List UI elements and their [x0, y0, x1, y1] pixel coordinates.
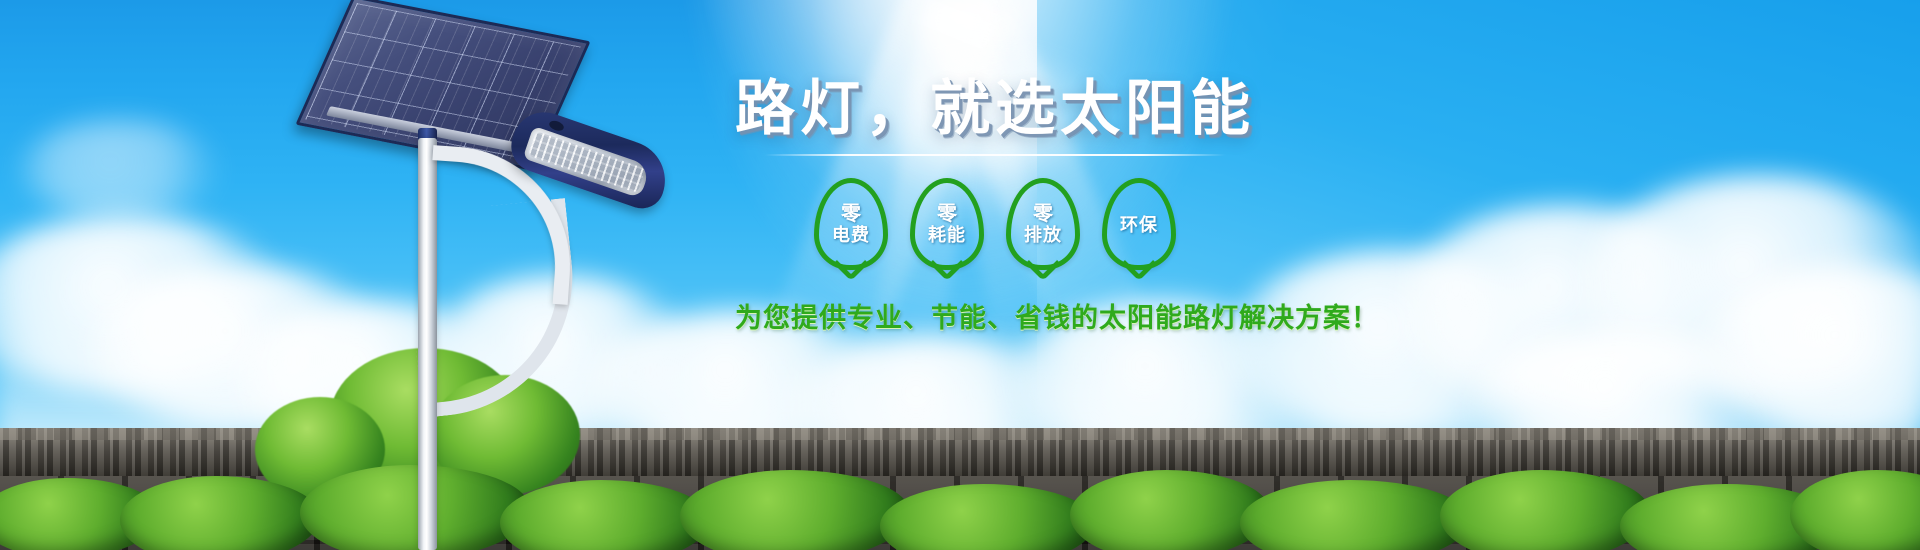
wall-blocks — [0, 476, 1920, 550]
banner-content: 路灯，就选太阳能 零 电费 零 耗能 零 排放 环保 — [735, 78, 1255, 335]
page-title: 路灯，就选太阳能 — [735, 78, 1255, 140]
roof-tiles — [0, 428, 1920, 476]
title-divider — [765, 154, 1225, 156]
badge-zero-label: 零 — [937, 204, 957, 224]
solar-street-lamp-banner: 路灯，就选太阳能 零 电费 零 耗能 零 排放 环保 — [0, 0, 1920, 550]
badge-text: 电费 — [832, 226, 870, 244]
badge-text: 环保 — [1120, 216, 1158, 234]
badge-text: 排放 — [1024, 226, 1062, 244]
badge-zero-label: 零 — [841, 204, 861, 224]
badge-text: 耗能 — [928, 226, 966, 244]
feature-badge-list: 零 电费 零 耗能 零 排放 环保 — [735, 178, 1255, 270]
badge-zero-label: 零 — [1033, 204, 1053, 224]
feature-badge-environmental: 环保 — [1102, 178, 1176, 270]
feature-badge-energy-consumption: 零 耗能 — [910, 178, 984, 270]
tiled-wall — [0, 428, 1920, 550]
feature-badge-electricity-fee: 零 电费 — [814, 178, 888, 270]
cloud-icon — [20, 120, 220, 220]
page-subtitle: 为您提供专业、节能、省钱的太阳能路灯解决方案！ — [735, 296, 1255, 335]
feature-badge-emissions: 零 排放 — [1006, 178, 1080, 270]
solar-street-lamp — [300, 0, 730, 550]
